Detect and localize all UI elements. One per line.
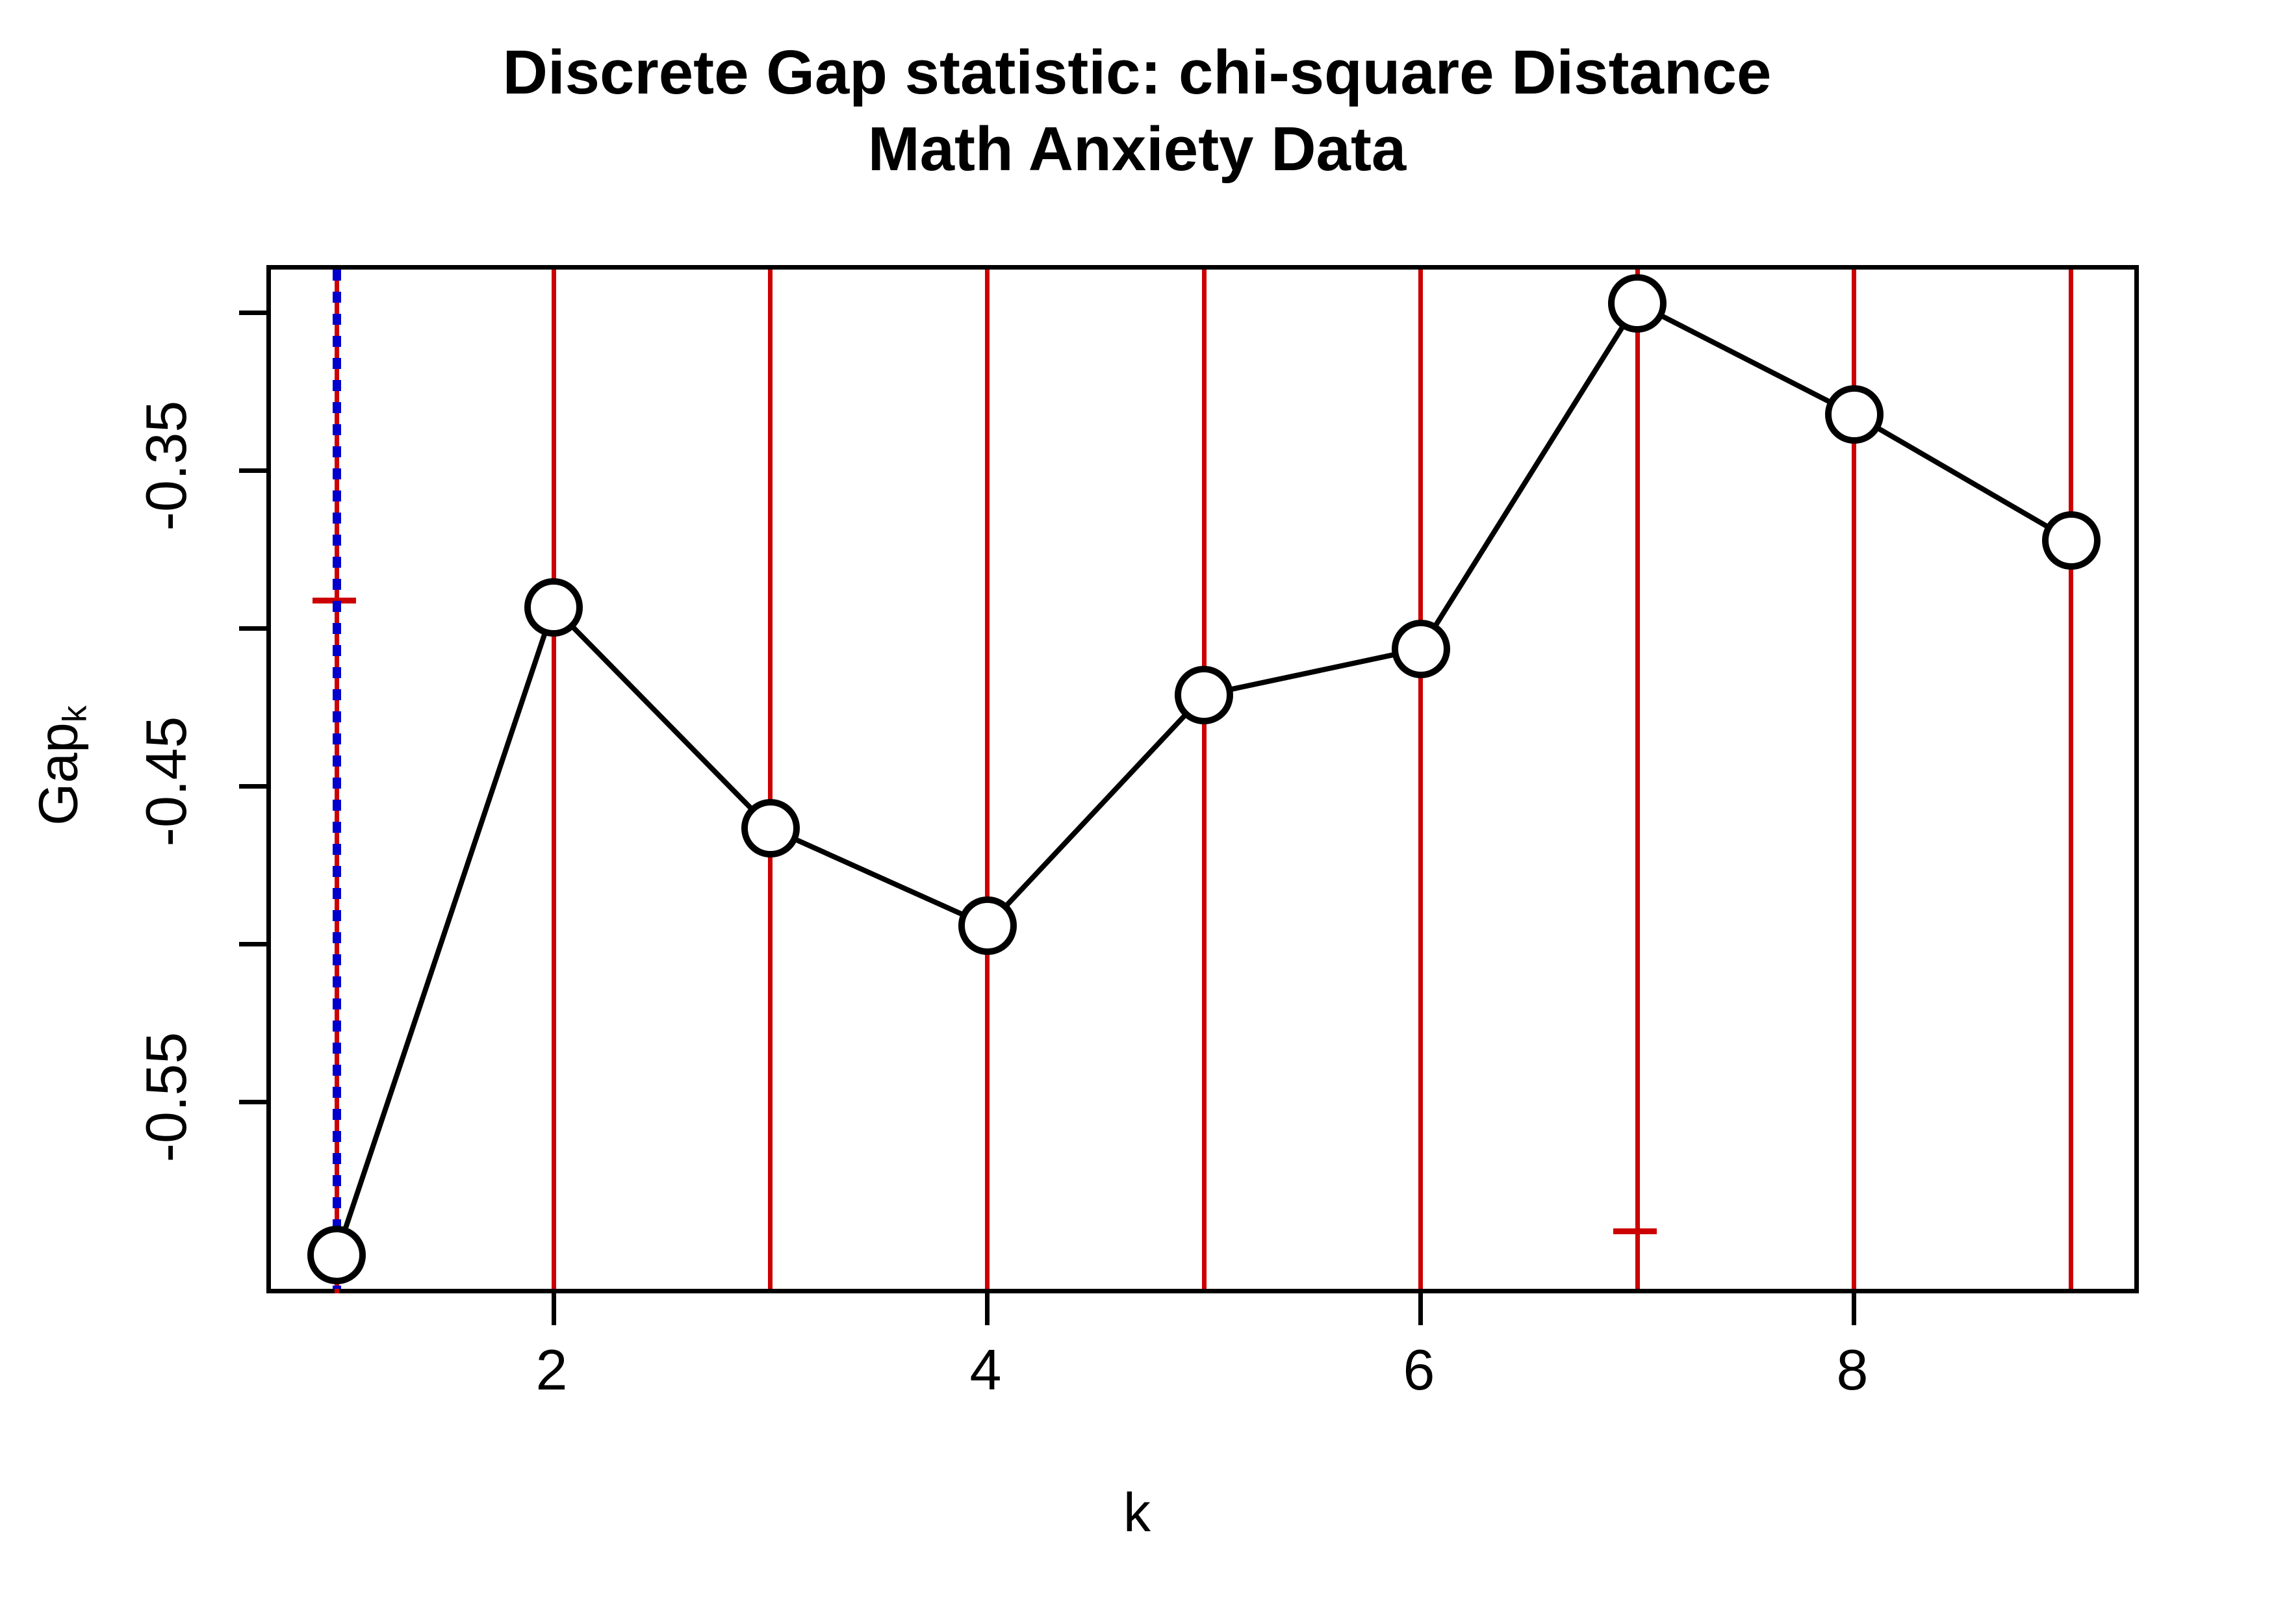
x-tick-mark-8 [1852,1293,1856,1325]
x-tick-label-8: 8 [1787,1337,1917,1403]
x-axis-title: k [0,1481,2274,1544]
series-overlay [271,270,2134,1289]
y-tick-label-2: -0.45 [133,655,199,908]
data-point-k9 [2045,514,2097,566]
chart-title-line2: Math Anxiety Data [0,116,2274,183]
gap-series-line [337,303,2071,1255]
data-point-k6 [1395,623,1447,675]
chart-root: Discrete Gap statistic: chi-square Dista… [0,0,2274,1624]
x-tick-mark-4 [985,1293,990,1325]
data-point-k7 [1611,277,1663,329]
y-axis-title-subscript: k [57,705,94,722]
y-tick-mark-5 [239,942,271,946]
data-point-k8 [1828,388,1880,440]
y-tick-mark-4 [239,784,271,789]
y-tick-mark-1 [239,311,271,315]
x-tick-mark-6 [1418,1293,1423,1325]
x-tick-label-2: 2 [487,1337,617,1403]
y-tick-label-3: -0.55 [133,971,199,1224]
data-point-k2 [528,581,580,633]
x-tick-label-4: 4 [921,1337,1051,1403]
y-tick-label-1: -0.35 [133,339,199,592]
data-point-k3 [745,802,797,854]
data-point-k4 [962,900,1014,952]
x-tick-mark-2 [552,1293,556,1325]
plot-panel [266,265,2139,1293]
y-tick-mark-2 [239,468,271,473]
y-axis-title-base: Gap [28,722,89,826]
data-point-k5 [1178,669,1230,721]
y-tick-mark-6 [239,1100,271,1104]
y-axis-title: Gapk [27,668,90,863]
chart-title-line1: Discrete Gap statistic: chi-square Dista… [0,39,2274,107]
data-point-k1 [311,1229,363,1281]
y-tick-mark-3 [239,626,271,631]
x-tick-label-6: 6 [1354,1337,1484,1403]
